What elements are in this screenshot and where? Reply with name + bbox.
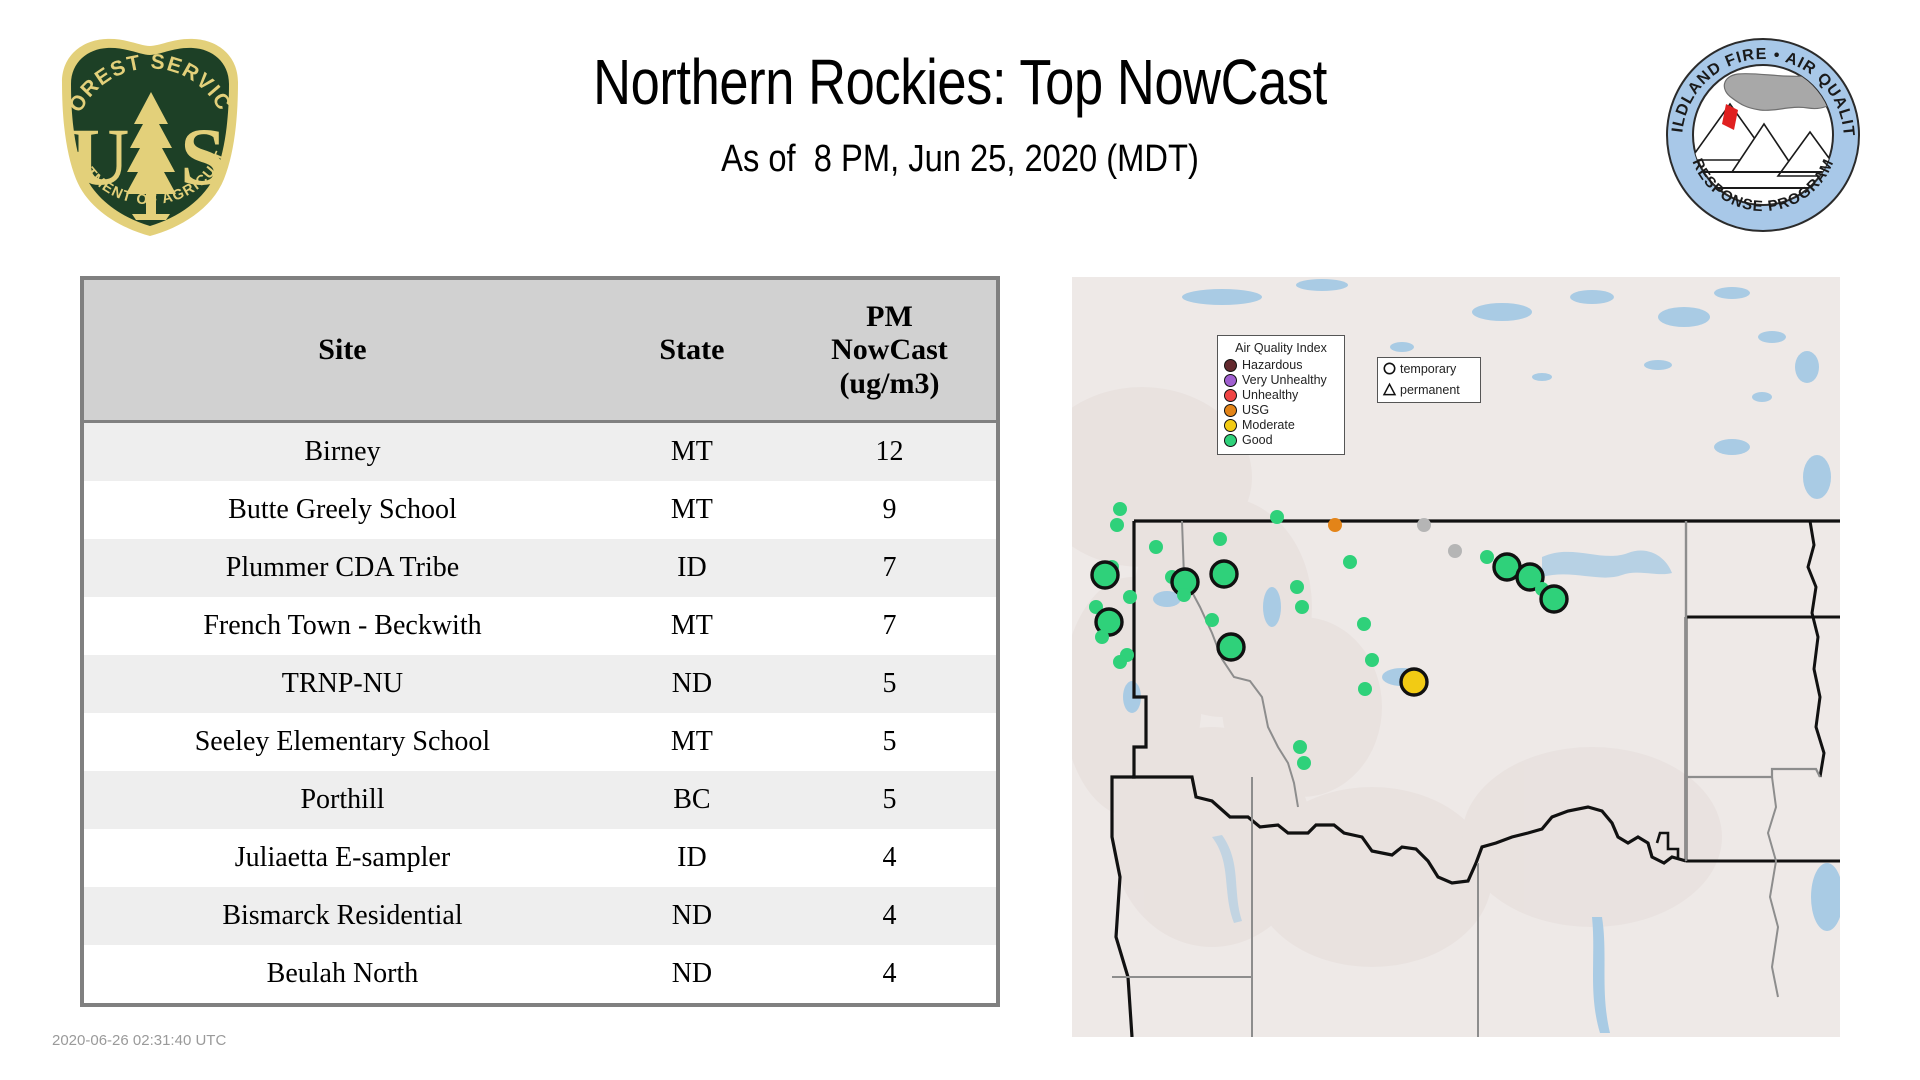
cell-site: Seeley Elementary School — [82, 713, 601, 771]
cell-pm: 5 — [783, 771, 998, 829]
table-row: TRNP-NUND5 — [82, 655, 998, 713]
cell-state: ID — [601, 539, 783, 597]
cell-state: ID — [601, 829, 783, 887]
aqi-swatch-icon — [1224, 374, 1237, 387]
monitor-dot-highlight[interactable] — [1218, 634, 1244, 660]
column-header-pm-nowcast: PM NowCast (ug/m3) — [783, 278, 998, 422]
table-row: Juliaetta E-samplerID4 — [82, 829, 998, 887]
aqi-swatch-icon — [1224, 434, 1237, 447]
table-row: Beulah NorthND4 — [82, 945, 998, 1005]
aqi-legend-title: Air Quality Index — [1224, 341, 1338, 355]
cell-pm: 5 — [783, 713, 998, 771]
aqi-legend-row: Very Unhealthy — [1224, 373, 1338, 388]
site-type-temporary: temporary — [1378, 358, 1480, 379]
monitor-dot[interactable] — [1328, 518, 1342, 532]
cell-site: Juliaetta E-sampler — [82, 829, 601, 887]
cell-site: Porthill — [82, 771, 601, 829]
monitor-dot[interactable] — [1110, 518, 1124, 532]
site-type-permanent-label: permanent — [1400, 383, 1460, 397]
cell-site: TRNP-NU — [82, 655, 601, 713]
monitor-dot[interactable] — [1343, 555, 1357, 569]
aqi-legend-label: Hazardous — [1242, 359, 1302, 372]
monitor-dot[interactable] — [1357, 617, 1371, 631]
cell-site: Bismarck Residential — [82, 887, 601, 945]
aqi-legend-label: Very Unhealthy — [1242, 374, 1327, 387]
cell-site: Butte Greely School — [82, 481, 601, 539]
site-type-permanent: permanent — [1378, 379, 1480, 400]
column-header-state: State — [601, 278, 783, 422]
cell-state: ND — [601, 655, 783, 713]
monitor-dot[interactable] — [1123, 590, 1137, 604]
cell-pm: 12 — [783, 422, 998, 482]
aqi-swatch-icon — [1224, 419, 1237, 432]
title-block: Northern Rockies: Top NowCast As of 8 PM… — [300, 48, 1620, 181]
monitor-dot[interactable] — [1113, 502, 1127, 516]
monitor-dot-highlight[interactable] — [1092, 562, 1118, 588]
pm-header-line-2: NowCast — [787, 333, 992, 367]
aqi-legend-label: Unhealthy — [1242, 389, 1298, 402]
monitor-dot[interactable] — [1480, 550, 1494, 564]
table-header-row: Site State PM NowCast (ug/m3) — [82, 278, 998, 422]
footer-timestamp: 2020-06-26 02:31:40 UTC — [52, 1032, 226, 1049]
cell-pm: 7 — [783, 539, 998, 597]
monitor-dot[interactable] — [1417, 518, 1431, 532]
table-row: Seeley Elementary SchoolMT5 — [82, 713, 998, 771]
page-subtitle: As of 8 PM, Jun 25, 2020 (MDT) — [392, 139, 1527, 181]
monitor-dot-highlight[interactable] — [1401, 669, 1427, 695]
monitor-dot[interactable] — [1365, 653, 1379, 667]
table-row: Plummer CDA TribeID7 — [82, 539, 998, 597]
cell-site: Plummer CDA Tribe — [82, 539, 601, 597]
table-row: PorthillBC5 — [82, 771, 998, 829]
monitor-dot[interactable] — [1270, 510, 1284, 524]
nowcast-table: Site State PM NowCast (ug/m3) BirneyMT12… — [80, 276, 1000, 1007]
monitor-dot[interactable] — [1290, 580, 1304, 594]
cell-pm: 4 — [783, 945, 998, 1005]
aqi-legend-label: Moderate — [1242, 419, 1295, 432]
pm-header-line-1: PM — [787, 300, 992, 334]
pm-header-line-3: (ug/m3) — [787, 367, 992, 401]
monitor-dot[interactable] — [1297, 756, 1311, 770]
cell-state: MT — [601, 597, 783, 655]
cell-site: Beulah North — [82, 945, 601, 1005]
table-row: Bismarck ResidentialND4 — [82, 887, 998, 945]
monitor-dot[interactable] — [1293, 740, 1307, 754]
aqi-legend-items: HazardousVery UnhealthyUnhealthyUSGModer… — [1224, 358, 1338, 448]
aqi-legend-label: Good — [1242, 434, 1273, 447]
monitor-dot-highlight[interactable] — [1211, 561, 1237, 587]
page-header: FOREST SERVICE DEPARTMENT OF AGRICULTURE… — [0, 0, 1920, 260]
cell-pm: 7 — [783, 597, 998, 655]
site-type-temporary-label: temporary — [1400, 362, 1456, 376]
table-row: Butte Greely SchoolMT9 — [82, 481, 998, 539]
table-body: BirneyMT12Butte Greely SchoolMT9Plummer … — [82, 422, 998, 1006]
cell-pm: 4 — [783, 887, 998, 945]
site-type-legend: temporary permanent — [1377, 357, 1481, 403]
aqi-swatch-icon — [1224, 359, 1237, 372]
cell-state: ND — [601, 945, 783, 1005]
forest-service-logo: FOREST SERVICE DEPARTMENT OF AGRICULTURE… — [48, 24, 253, 239]
page-title: Northern Rockies: Top NowCast — [419, 48, 1501, 117]
table-row: French Town - BeckwithMT7 — [82, 597, 998, 655]
shield-letter-s: S — [180, 111, 226, 202]
monitor-dot[interactable] — [1149, 540, 1163, 554]
cell-pm: 4 — [783, 829, 998, 887]
cell-pm: 5 — [783, 655, 998, 713]
monitor-dot[interactable] — [1205, 613, 1219, 627]
monitor-dot[interactable] — [1095, 630, 1109, 644]
cell-state: MT — [601, 713, 783, 771]
wfaq-program-logo: WILDLAND FIRE • AIR QUALITY RESPONSE PRO… — [1660, 32, 1865, 237]
cell-state: MT — [601, 422, 783, 482]
aqi-legend-row: Unhealthy — [1224, 388, 1338, 403]
aqi-legend: Air Quality Index HazardousVery Unhealth… — [1217, 335, 1345, 455]
cell-site: French Town - Beckwith — [82, 597, 601, 655]
cell-pm: 9 — [783, 481, 998, 539]
aqi-legend-label: USG — [1242, 404, 1269, 417]
cell-state: MT — [601, 481, 783, 539]
aqi-legend-row: Good — [1224, 433, 1338, 448]
cell-state: BC — [601, 771, 783, 829]
monitor-dot[interactable] — [1177, 588, 1191, 602]
cell-state: ND — [601, 887, 783, 945]
circle-marker-icon — [1382, 361, 1397, 376]
monitor-dot-highlight[interactable] — [1541, 586, 1567, 612]
monitor-dot[interactable] — [1213, 532, 1227, 546]
monitor-dot[interactable] — [1295, 600, 1309, 614]
monitor-dot[interactable] — [1113, 655, 1127, 669]
aqi-legend-row: Hazardous — [1224, 358, 1338, 373]
monitor-dot[interactable] — [1448, 544, 1462, 558]
aqi-legend-row: Moderate — [1224, 418, 1338, 433]
column-header-site: Site — [82, 278, 601, 422]
shield-letter-u: U — [70, 111, 129, 202]
monitor-dot[interactable] — [1358, 682, 1372, 696]
aqi-legend-row: USG — [1224, 403, 1338, 418]
cell-site: Birney — [82, 422, 601, 482]
triangle-marker-icon — [1382, 382, 1397, 397]
table-row: BirneyMT12 — [82, 422, 998, 482]
nowcast-table-container: Site State PM NowCast (ug/m3) BirneyMT12… — [80, 276, 1000, 1007]
table-header: Site State PM NowCast (ug/m3) — [82, 278, 998, 422]
aqi-swatch-icon — [1224, 389, 1237, 402]
aqi-swatch-icon — [1224, 404, 1237, 417]
air-quality-map[interactable]: Air Quality Index HazardousVery Unhealth… — [1072, 277, 1840, 1037]
